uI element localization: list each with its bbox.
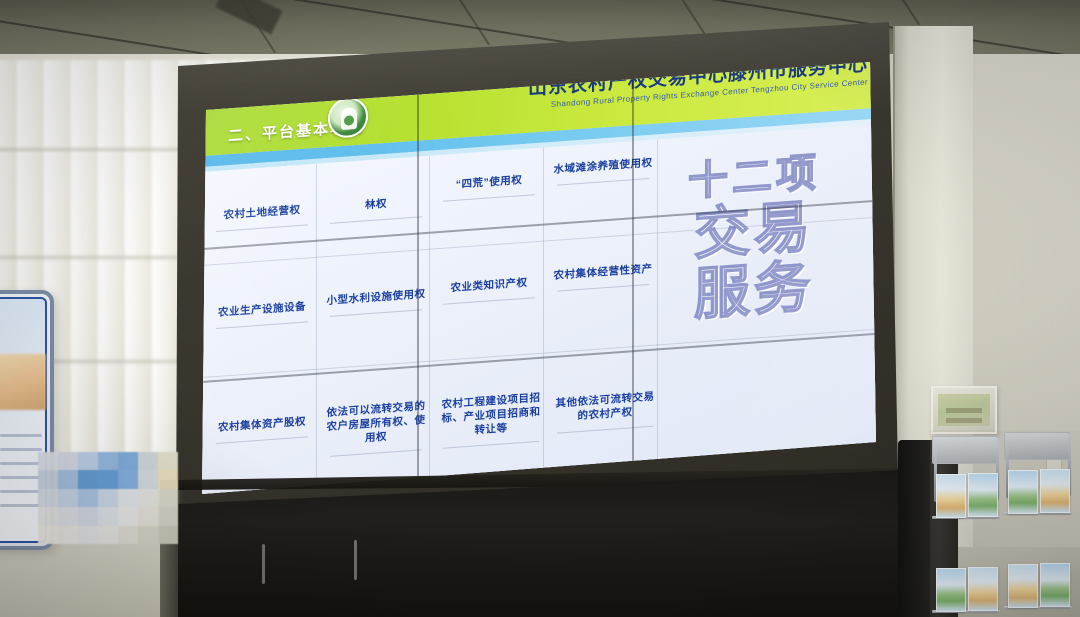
cell-text: 小型水利设施使用权 [327, 288, 426, 307]
wall-plaque [931, 386, 997, 434]
table-cell: 林权 [326, 194, 426, 215]
cell-underline [443, 297, 535, 305]
plaque-face [938, 394, 990, 426]
rack-header-panel [932, 436, 998, 464]
brochure[interactable] [968, 473, 998, 517]
table-cell: 农村集体资产股权 [212, 414, 312, 435]
cell-underline [330, 309, 422, 317]
table-cell: 其他依法可流转交易的农村产权 [553, 389, 657, 424]
cell-text: 其他依法可流转交易的农村产权 [556, 391, 655, 423]
cell-underline [216, 321, 308, 329]
brochure[interactable] [1008, 564, 1038, 608]
table-cell: 农村工程建设项目招标、产业项目招商和转让等 [439, 391, 543, 440]
cabinet-handle[interactable] [262, 544, 265, 584]
grid-line [657, 139, 658, 465]
brochure[interactable] [1040, 469, 1070, 513]
cell-text: 水域滩涂养殖使用权 [554, 157, 653, 176]
cell-underline [557, 284, 649, 292]
panel-seam-vertical [417, 85, 419, 483]
cell-underline [443, 441, 539, 449]
brochure-rack[interactable] [930, 430, 1080, 617]
mosaic-censor-block [38, 452, 178, 544]
cell-underline [443, 194, 535, 202]
table-cell: 依法可以流转交易的农户房屋所有权、使用权 [326, 399, 426, 448]
grid-line [316, 164, 317, 490]
cell-underline [330, 216, 422, 224]
room-scene: 二、平台基本功能 山东农村产权交易中心滕州市服务中心 Shandong Rura… [0, 0, 1080, 617]
watermark-line-3: 服务 [664, 254, 844, 327]
grid-line [543, 148, 544, 474]
ceiling-duct [215, 0, 282, 34]
cell-text: 农业类知识产权 [451, 277, 528, 295]
table-cell: “四荒”使用权 [439, 172, 539, 193]
brochure[interactable] [936, 474, 966, 518]
cell-underline [216, 224, 308, 232]
rack-header-panel [1004, 432, 1070, 460]
cell-text: 林权 [365, 198, 387, 212]
brochure[interactable] [936, 568, 966, 612]
kiosk-artwork [0, 354, 46, 410]
brochure[interactable] [1008, 470, 1038, 514]
brochure[interactable] [968, 567, 998, 611]
cell-underline [557, 178, 649, 186]
table-cell: 农业类知识产权 [439, 275, 539, 296]
slide-body: 农村土地经营权 林权 “四荒”使用权 水域滩涂养殖使用权 [202, 124, 878, 498]
slide-watermark: 十二项 交易 服务 [664, 148, 844, 327]
table-cell: 农村集体经营性资产 [553, 262, 653, 283]
cell-text: 农业生产设施设备 [218, 301, 306, 319]
grid-line [429, 156, 430, 482]
cabinet-handle[interactable] [354, 540, 357, 580]
cell-underline [330, 449, 422, 457]
grid-line [202, 329, 878, 378]
cell-text: 依法可以流转交易的农户房屋所有权、使用权 [327, 400, 426, 444]
table-cell: 水域滩涂养殖使用权 [553, 156, 653, 177]
cell-underline [557, 426, 653, 434]
cell-text: 农村集体经营性资产 [554, 263, 653, 282]
cell-text: 农村工程建设项目招标、产业项目招商和转让等 [442, 392, 541, 437]
table-cell: 农业生产设施设备 [212, 299, 312, 320]
brochure[interactable] [1040, 563, 1070, 607]
cell-text: “四荒”使用权 [456, 174, 523, 191]
cell-text: 农村集体资产股权 [218, 416, 306, 434]
cell-underline [216, 436, 308, 444]
cell-text: 农村土地经营权 [224, 204, 301, 222]
table-cell: 小型水利设施使用权 [326, 287, 426, 308]
panel-seam-vertical [632, 69, 634, 467]
table-cell: 农村土地经营权 [212, 202, 312, 223]
